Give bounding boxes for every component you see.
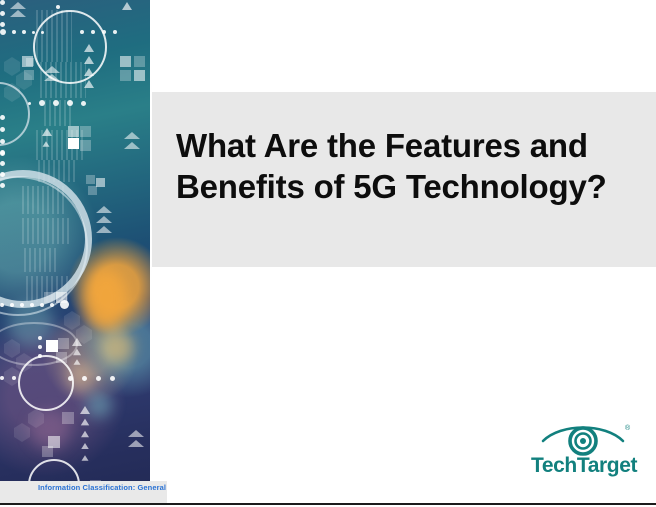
dot-column — [0, 0, 5, 27]
triangle-icon — [81, 419, 90, 426]
amber-glow — [100, 330, 134, 364]
triangle-icon — [81, 431, 89, 437]
chevron-icon — [10, 2, 26, 9]
hexagon-icon — [76, 330, 92, 339]
triangle-icon — [84, 68, 94, 76]
hexagon-icon — [4, 372, 20, 381]
triangle-icon — [84, 80, 94, 88]
dot-row — [56, 5, 60, 9]
cyan-glow — [86, 392, 112, 418]
square-marker — [80, 140, 91, 151]
square-marker — [88, 186, 97, 195]
chevron-icon — [44, 74, 60, 81]
chevron-icon — [128, 430, 144, 437]
hexagon-icon — [16, 358, 32, 367]
dot-row — [68, 376, 115, 381]
chevron-icon — [44, 66, 60, 73]
hexagon-icon — [14, 428, 30, 437]
square-marker — [96, 178, 105, 187]
triangle-icon — [122, 2, 132, 10]
chevron-icon — [96, 216, 112, 223]
square-marker — [68, 138, 79, 149]
square-marker — [134, 56, 145, 67]
triangle-icon — [42, 128, 52, 136]
triangle-icon — [82, 455, 89, 461]
chevron-icon — [96, 206, 112, 213]
dot-column — [38, 336, 42, 358]
chevron-icon — [124, 132, 140, 139]
information-classification-label: Information Classification: General — [38, 483, 166, 492]
square-marker — [58, 338, 69, 349]
hexagon-icon — [4, 344, 20, 353]
square-marker — [68, 126, 79, 137]
square-marker — [86, 175, 95, 184]
dot-row — [80, 30, 117, 34]
presentation-slide: What Are the Features and Benefits of 5G… — [0, 0, 656, 507]
square-marker — [46, 340, 58, 352]
triangle-icon — [84, 56, 94, 64]
square-marker — [62, 412, 74, 424]
page-title: What Are the Features and Benefits of 5G… — [176, 126, 636, 207]
dot-row — [0, 29, 44, 35]
triangle-icon — [43, 141, 50, 147]
chevron-icon — [124, 142, 140, 149]
chevron-icon — [96, 226, 112, 233]
square-marker — [134, 70, 145, 81]
triangle-icon — [80, 406, 90, 414]
square-marker — [120, 70, 131, 81]
hero-tech-image — [0, 0, 150, 494]
logo-wordmark: TechTarget — [531, 454, 635, 478]
square-marker — [56, 352, 67, 363]
square-marker — [80, 126, 91, 137]
hexagon-icon — [64, 316, 80, 325]
chevron-icon — [128, 440, 144, 447]
techtarget-logo[interactable]: ® TechTarget — [531, 418, 635, 478]
registered-trademark-icon: ® — [625, 424, 631, 432]
triangle-icon — [73, 349, 81, 355]
triangle-icon — [84, 44, 94, 52]
square-marker — [120, 56, 131, 67]
triangle-icon — [74, 359, 81, 365]
dot-column — [0, 115, 5, 156]
hexagon-icon — [4, 62, 20, 71]
orange-glow — [84, 268, 128, 330]
square-marker — [26, 58, 34, 66]
square-marker — [42, 446, 53, 457]
square-marker — [56, 292, 67, 303]
chevron-icon — [10, 10, 26, 17]
bottom-rule — [0, 503, 656, 505]
hexagon-icon — [28, 414, 44, 423]
triangle-icon — [81, 443, 89, 449]
hexagon-icon — [4, 88, 20, 97]
dot-row — [28, 100, 86, 106]
eye-icon: ® — [531, 418, 635, 458]
square-marker — [44, 292, 55, 303]
